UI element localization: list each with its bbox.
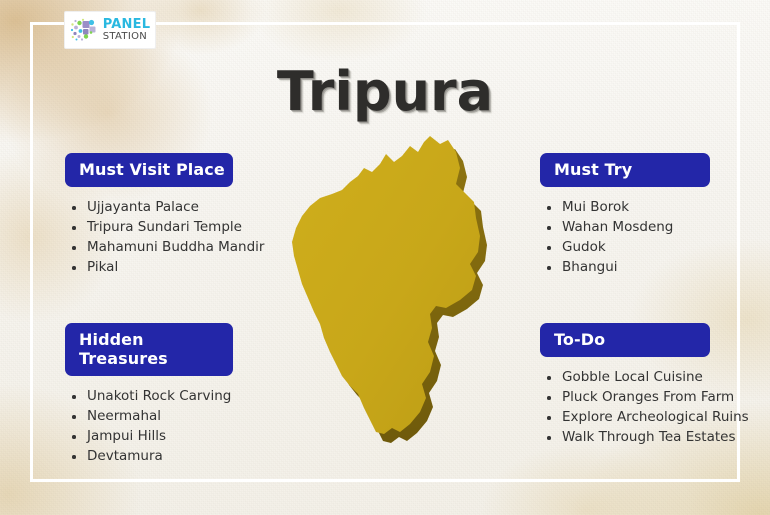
brand-wordmark: PANEL STATION xyxy=(103,18,150,42)
section-heading-hidden-treasures: Hidden Treasures xyxy=(65,323,233,376)
list-item: Ujjayanta Palace xyxy=(65,198,295,217)
list-must-try: Mui Borok Wahan Mosdeng Gudok Bhangui xyxy=(540,198,765,277)
list-item: Tripura Sundari Temple xyxy=(65,218,295,237)
section-heading-must-try: Must Try xyxy=(540,153,710,187)
section-must-visit-place: Must Visit Place Ujjayanta Palace Tripur… xyxy=(65,153,295,278)
list-item: Walk Through Tea Estates xyxy=(540,428,768,447)
section-heading-must-visit-place: Must Visit Place xyxy=(65,153,233,187)
list-item: Neermahal xyxy=(65,407,295,426)
section-hidden-treasures: Hidden Treasures Unakoti Rock Carving Ne… xyxy=(65,323,295,467)
list-item: Mahamuni Buddha Mandir xyxy=(65,238,295,257)
list-item: Mui Borok xyxy=(540,198,765,217)
list-item: Pluck Oranges From Farm xyxy=(540,388,768,407)
section-to-do: To-Do Gobble Local Cuisine Pluck Oranges… xyxy=(540,323,768,448)
list-item: Explore Archeological Ruins xyxy=(540,408,768,427)
list-item: Gudok xyxy=(540,238,765,257)
list-item: Bhangui xyxy=(540,258,765,277)
list-item: Gobble Local Cuisine xyxy=(540,368,768,387)
map-top-face xyxy=(292,136,480,434)
brand-name-panel: PANEL xyxy=(103,18,150,31)
list-item: Pikal xyxy=(65,258,295,277)
list-item: Devtamura xyxy=(65,447,295,466)
tripura-map xyxy=(280,132,505,462)
list-item: Jampui Hills xyxy=(65,427,295,446)
section-heading-to-do: To-Do xyxy=(540,323,710,357)
section-must-try: Must Try Mui Borok Wahan Mosdeng Gudok B… xyxy=(540,153,765,278)
dot-cluster-icon xyxy=(70,18,100,42)
page-title: Tripura xyxy=(0,60,770,123)
brand-name-station: STATION xyxy=(103,32,150,42)
list-hidden-treasures: Unakoti Rock Carving Neermahal Jampui Hi… xyxy=(65,387,295,466)
brand-logo[interactable]: PANEL STATION xyxy=(64,11,156,49)
list-item: Unakoti Rock Carving xyxy=(65,387,295,406)
list-to-do: Gobble Local Cuisine Pluck Oranges From … xyxy=(540,368,768,447)
infographic-poster: PANEL STATION Tripura xyxy=(0,0,770,515)
list-item: Wahan Mosdeng xyxy=(540,218,765,237)
list-must-visit-place: Ujjayanta Palace Tripura Sundari Temple … xyxy=(65,198,295,277)
